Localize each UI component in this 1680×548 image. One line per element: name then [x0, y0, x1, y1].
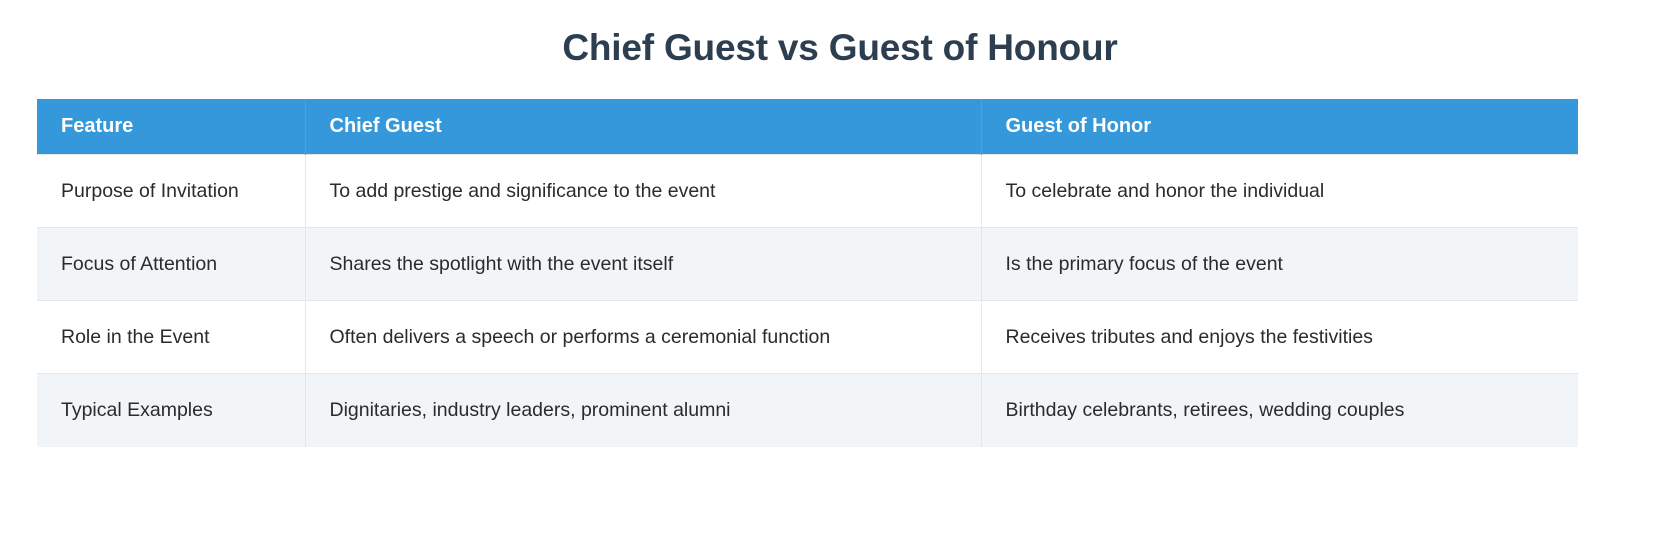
- comparison-table-page: Chief Guest vs Guest of Honour Feature C…: [0, 0, 1680, 548]
- cell-chief-guest: To add prestige and significance to the …: [305, 155, 981, 228]
- table-header-row: Feature Chief Guest Guest of Honor: [37, 99, 1578, 155]
- column-header-guest-of-honor: Guest of Honor: [981, 99, 1578, 155]
- comparison-table-container: Feature Chief Guest Guest of Honor Purpo…: [37, 99, 1578, 447]
- cell-feature: Role in the Event: [37, 301, 305, 374]
- cell-feature: Focus of Attention: [37, 228, 305, 301]
- table-header: Feature Chief Guest Guest of Honor: [37, 99, 1578, 155]
- cell-guest-of-honor: Receives tributes and enjoys the festivi…: [981, 301, 1578, 374]
- table-row: Typical Examples Dignitaries, industry l…: [37, 374, 1578, 447]
- comparison-table: Feature Chief Guest Guest of Honor Purpo…: [37, 99, 1578, 447]
- cell-guest-of-honor: Birthday celebrants, retirees, wedding c…: [981, 374, 1578, 447]
- table-row: Role in the Event Often delivers a speec…: [37, 301, 1578, 374]
- table-body: Purpose of Invitation To add prestige an…: [37, 155, 1578, 447]
- cell-chief-guest: Shares the spotlight with the event itse…: [305, 228, 981, 301]
- table-row: Purpose of Invitation To add prestige an…: [37, 155, 1578, 228]
- cell-guest-of-honor: To celebrate and honor the individual: [981, 155, 1578, 228]
- table-row: Focus of Attention Shares the spotlight …: [37, 228, 1578, 301]
- cell-feature: Purpose of Invitation: [37, 155, 305, 228]
- column-header-feature: Feature: [37, 99, 305, 155]
- cell-chief-guest: Often delivers a speech or performs a ce…: [305, 301, 981, 374]
- cell-feature: Typical Examples: [37, 374, 305, 447]
- cell-guest-of-honor: Is the primary focus of the event: [981, 228, 1578, 301]
- column-header-chief-guest: Chief Guest: [305, 99, 981, 155]
- cell-chief-guest: Dignitaries, industry leaders, prominent…: [305, 374, 981, 447]
- page-title: Chief Guest vs Guest of Honour: [0, 26, 1680, 70]
